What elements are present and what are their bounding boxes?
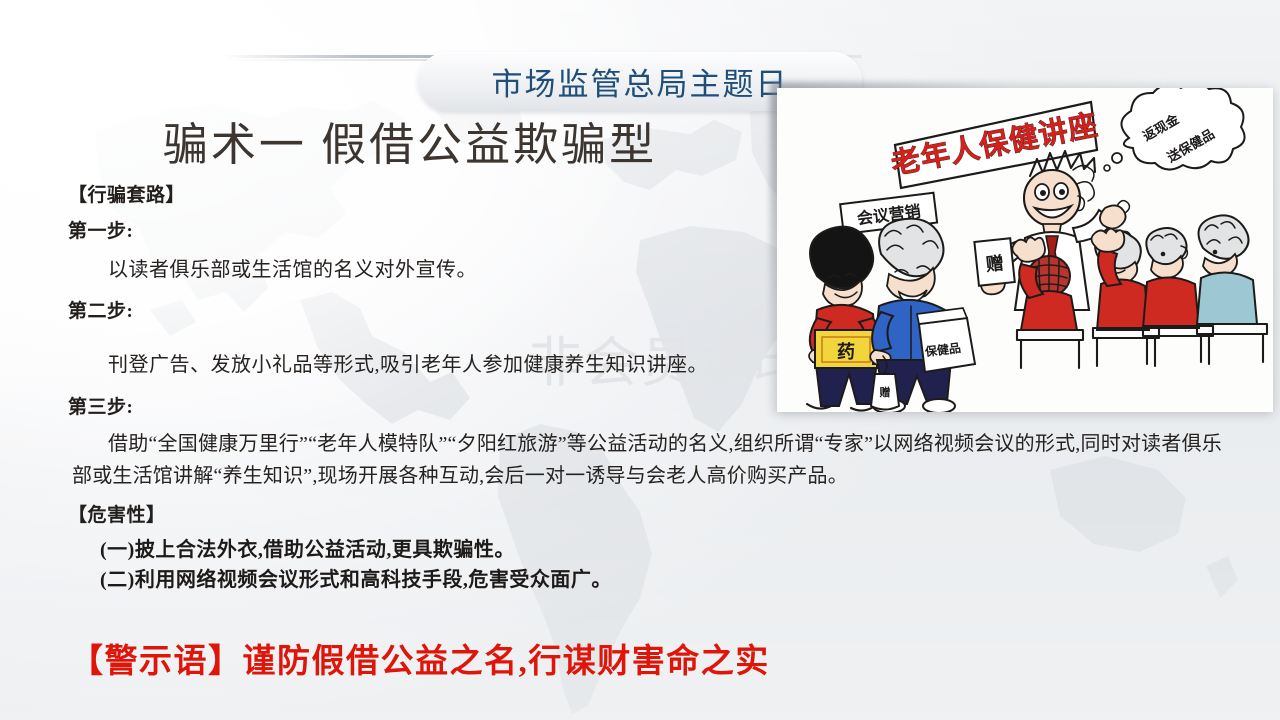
harm-item-2: (二)利用网络视频会议形式和高科技手段,危害受众面广。 — [100, 570, 612, 590]
slide-root: 非会员水印 市场监管总局主题日 骗术一 假借公益欺骗型 【行骗套路】 第一步: … — [0, 0, 1280, 720]
step-3-text: 借助“全国健康万里行”“老年人模特队”“夕阳红旅游”等公益活动的名义,组织所谓“… — [72, 428, 1222, 492]
health-product-box: 保健品 — [917, 308, 975, 372]
step-1-text: 以读者俱乐部或生活馆的名义对外宣传。 — [108, 260, 477, 280]
harm-label: 【危害性】 — [68, 506, 166, 525]
warning-text: 【警示语】谨防假借公益之名,行谋财害命之实 — [70, 634, 770, 682]
medicine-box-text: 药 — [837, 341, 855, 362]
routine-label: 【行骗套路】 — [68, 186, 185, 205]
step-2-text: 刊登广告、发放小礼品等形式,吸引老年人参加健康养生知识讲座。 — [108, 355, 708, 375]
step-2-label: 第二步: — [68, 302, 133, 321]
step-1-label: 第一步: — [68, 222, 133, 241]
illustration-panel: 会议营销 老年人保健讲座 返现金 送保健品 — [777, 88, 1273, 412]
gift-card-text: 赠 — [985, 252, 1005, 275]
gift-bag-text: 赠 — [880, 385, 891, 399]
scam-lecture-cartoon: 会议营销 老年人保健讲座 返现金 送保健品 — [777, 88, 1273, 412]
woman-with-medicine-box — [807, 227, 881, 411]
gift-card: 赠 — [974, 238, 1014, 286]
harm-item-1: (一)披上合法外衣,借助公益活动,更具欺骗性。 — [100, 540, 515, 560]
step-3-label: 第三步: — [68, 398, 133, 417]
medicine-box: 药 — [815, 330, 877, 368]
